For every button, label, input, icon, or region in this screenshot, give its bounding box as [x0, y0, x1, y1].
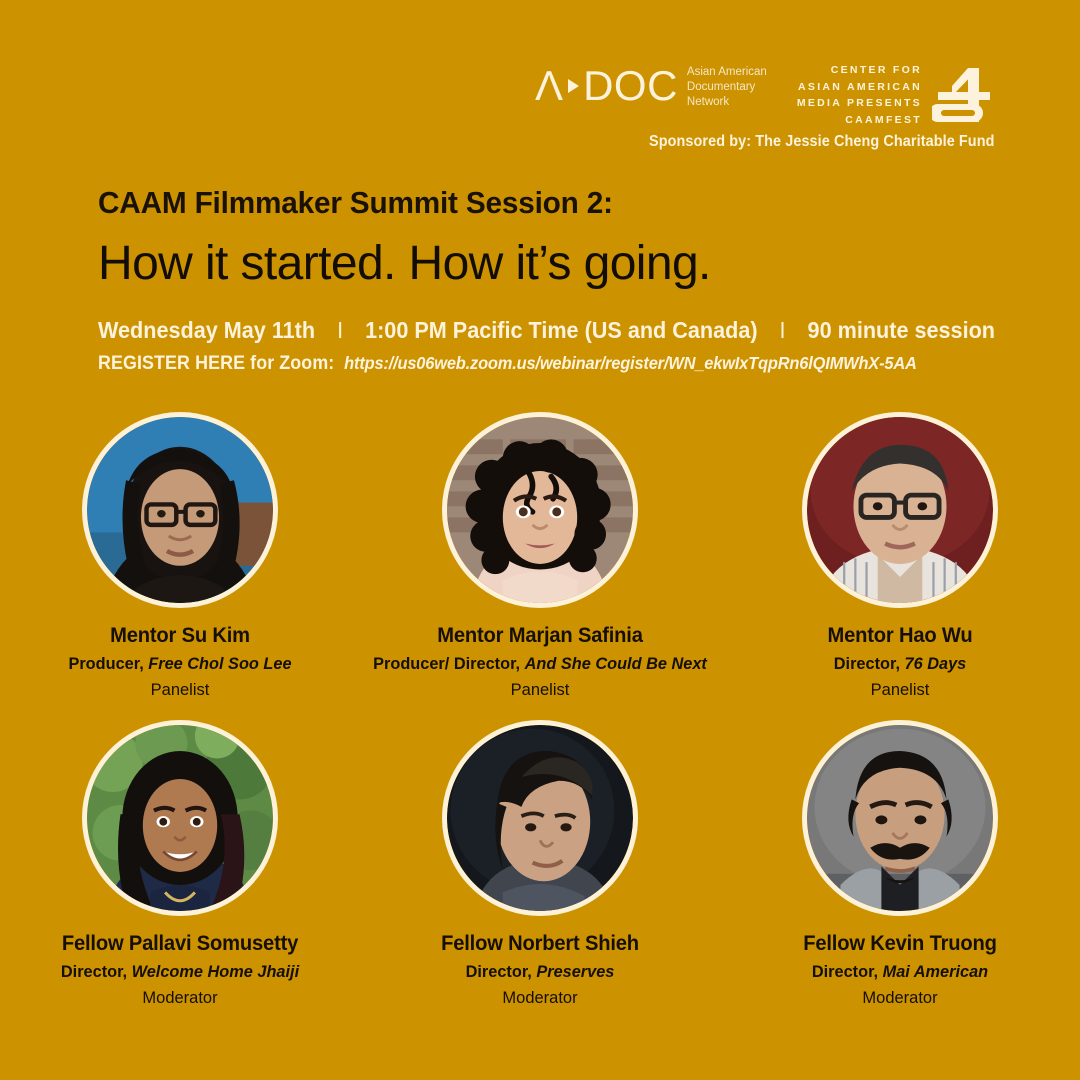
panelist-tag: Panelist [5, 680, 354, 700]
panelist-tag: Panelist [365, 680, 714, 700]
panelist-role-prefix: Producer, [68, 654, 148, 673]
caamfest-logo: CENTER FOR ASIAN AMERICAN MEDIA PRESENTS… [797, 62, 994, 128]
caamfest-text: CENTER FOR ASIAN AMERICAN MEDIA PRESENTS… [797, 62, 922, 128]
adoc-subtitle-line-2: Documentary [687, 80, 767, 95]
panelist-film-title: Mai American [883, 962, 989, 981]
sponsor-text: Sponsored by: The Jessie Cheng Charitabl… [649, 133, 994, 151]
avatar [442, 720, 638, 916]
event-duration: 90 minute session [808, 317, 995, 343]
caamfest-line-1: CENTER FOR [797, 62, 922, 79]
panelist-card: Mentor Hao Wu Director, 76 Days Panelist [720, 412, 1080, 700]
panelist-film-title: And She Could Be Next [525, 654, 707, 673]
panelist-role: Producer/ Director, And She Could Be Nex… [367, 654, 713, 674]
caamfest-line-2: ASIAN AMERICAN [797, 79, 922, 96]
panelist-card: Fellow Pallavi Somusetty Director, Welco… [0, 720, 360, 1008]
panelist-role: Producer, Free Chol Soo Lee [7, 654, 353, 674]
play-triangle-icon [568, 79, 579, 93]
portrait-norbert-shieh [447, 725, 633, 911]
caamfest-line-4: CAAMFEST [797, 112, 922, 129]
panelist-role-prefix: Director, [834, 654, 905, 673]
panelist-role-prefix: Director, [61, 962, 132, 981]
panelist-name: Mentor Hao Wu [727, 624, 1073, 648]
panelist-role: Director, 76 Days [727, 654, 1073, 674]
adoc-lambda-glyph: Λ [535, 65, 564, 107]
title-block: CAAM Filmmaker Summit Session 2: How it … [98, 186, 1052, 375]
panelist-tag: Panelist [725, 680, 1074, 700]
portrait-marjan-safinia [447, 417, 633, 603]
adoc-subtitle-line-3: Network [687, 95, 767, 110]
register-label: REGISTER HERE for Zoom: [98, 353, 334, 374]
meta-separator-2: I [764, 317, 802, 344]
panelist-role: Director, Welcome Home Jhaiji [7, 962, 353, 982]
panelist-card: Mentor Su Kim Producer, Free Chol Soo Le… [0, 412, 360, 700]
portrait-su-kim [87, 417, 273, 603]
event-time: 1:00 PM Pacific Time (US and Canada) [365, 317, 757, 343]
panelist-role-prefix: Director, [466, 962, 537, 981]
event-poster: Λ DOC Asian American Documentary Network… [0, 0, 1080, 1080]
panelist-role-prefix: Director, [812, 962, 883, 981]
logo-bar: Λ DOC Asian American Documentary Network… [535, 62, 994, 128]
panelist-film-title: Preserves [536, 962, 614, 981]
event-date: Wednesday May 11th [98, 317, 315, 343]
panelist-film-title: Free Chol Soo Lee [148, 654, 291, 673]
panelist-tag: Moderator [5, 988, 354, 1008]
adoc-subtitle-line-1: Asian American [687, 65, 767, 80]
caamfest-line-3: MEDIA PRESENTS [797, 95, 922, 112]
register-line: REGISTER HERE for Zoom: https://us06web.… [98, 353, 995, 375]
panelist-film-title: Welcome Home Jhaiji [132, 962, 299, 981]
panelist-role: Director, Preserves [367, 962, 713, 982]
portrait-hao-wu [807, 417, 993, 603]
adoc-subtitle: Asian American Documentary Network [687, 62, 767, 111]
avatar [802, 720, 998, 916]
avatar [82, 412, 278, 608]
caamfest-40-anniversary-icon [932, 66, 994, 124]
avatar [82, 720, 278, 916]
portrait-kevin-truong [807, 725, 993, 911]
panelist-name: Fellow Kevin Truong [727, 932, 1073, 956]
panelist-card: Fellow Kevin Truong Director, Mai Americ… [720, 720, 1080, 1008]
adoc-doc-text: DOC [583, 65, 678, 107]
event-meta: Wednesday May 11th I 1:00 PM Pacific Tim… [98, 317, 995, 344]
panelist-name: Fellow Pallavi Somusetty [7, 932, 353, 956]
adoc-wordmark: Λ DOC [535, 65, 678, 107]
panelist-card: Mentor Marjan Safinia Producer/ Director… [360, 412, 720, 700]
panelist-tag: Moderator [365, 988, 714, 1008]
panelist-name: Mentor Marjan Safinia [367, 624, 713, 648]
panelist-role: Director, Mai American [727, 962, 1073, 982]
register-link[interactable]: https://us06web.zoom.us/webinar/register… [344, 353, 917, 373]
avatar [802, 412, 998, 608]
portrait-pallavi-somusetty [87, 725, 273, 911]
meta-separator-1: I [321, 317, 359, 344]
avatar [442, 412, 638, 608]
adoc-logo: Λ DOC Asian American Documentary Network [535, 62, 767, 111]
panelist-tag: Moderator [725, 988, 1074, 1008]
page-title: How it started. How it’s going. [98, 237, 1052, 291]
session-kicker: CAAM Filmmaker Summit Session 2: [98, 186, 1014, 220]
panelist-film-title: 76 Days [905, 654, 967, 673]
panelist-name: Mentor Su Kim [7, 624, 353, 648]
panelist-role-prefix: Producer/ Director, [373, 654, 524, 673]
panelist-card: Fellow Norbert Shieh Director, Preserves… [360, 720, 720, 1008]
panelist-name: Fellow Norbert Shieh [367, 932, 713, 956]
panelist-grid: Mentor Su Kim Producer, Free Chol Soo Le… [0, 412, 1080, 1008]
